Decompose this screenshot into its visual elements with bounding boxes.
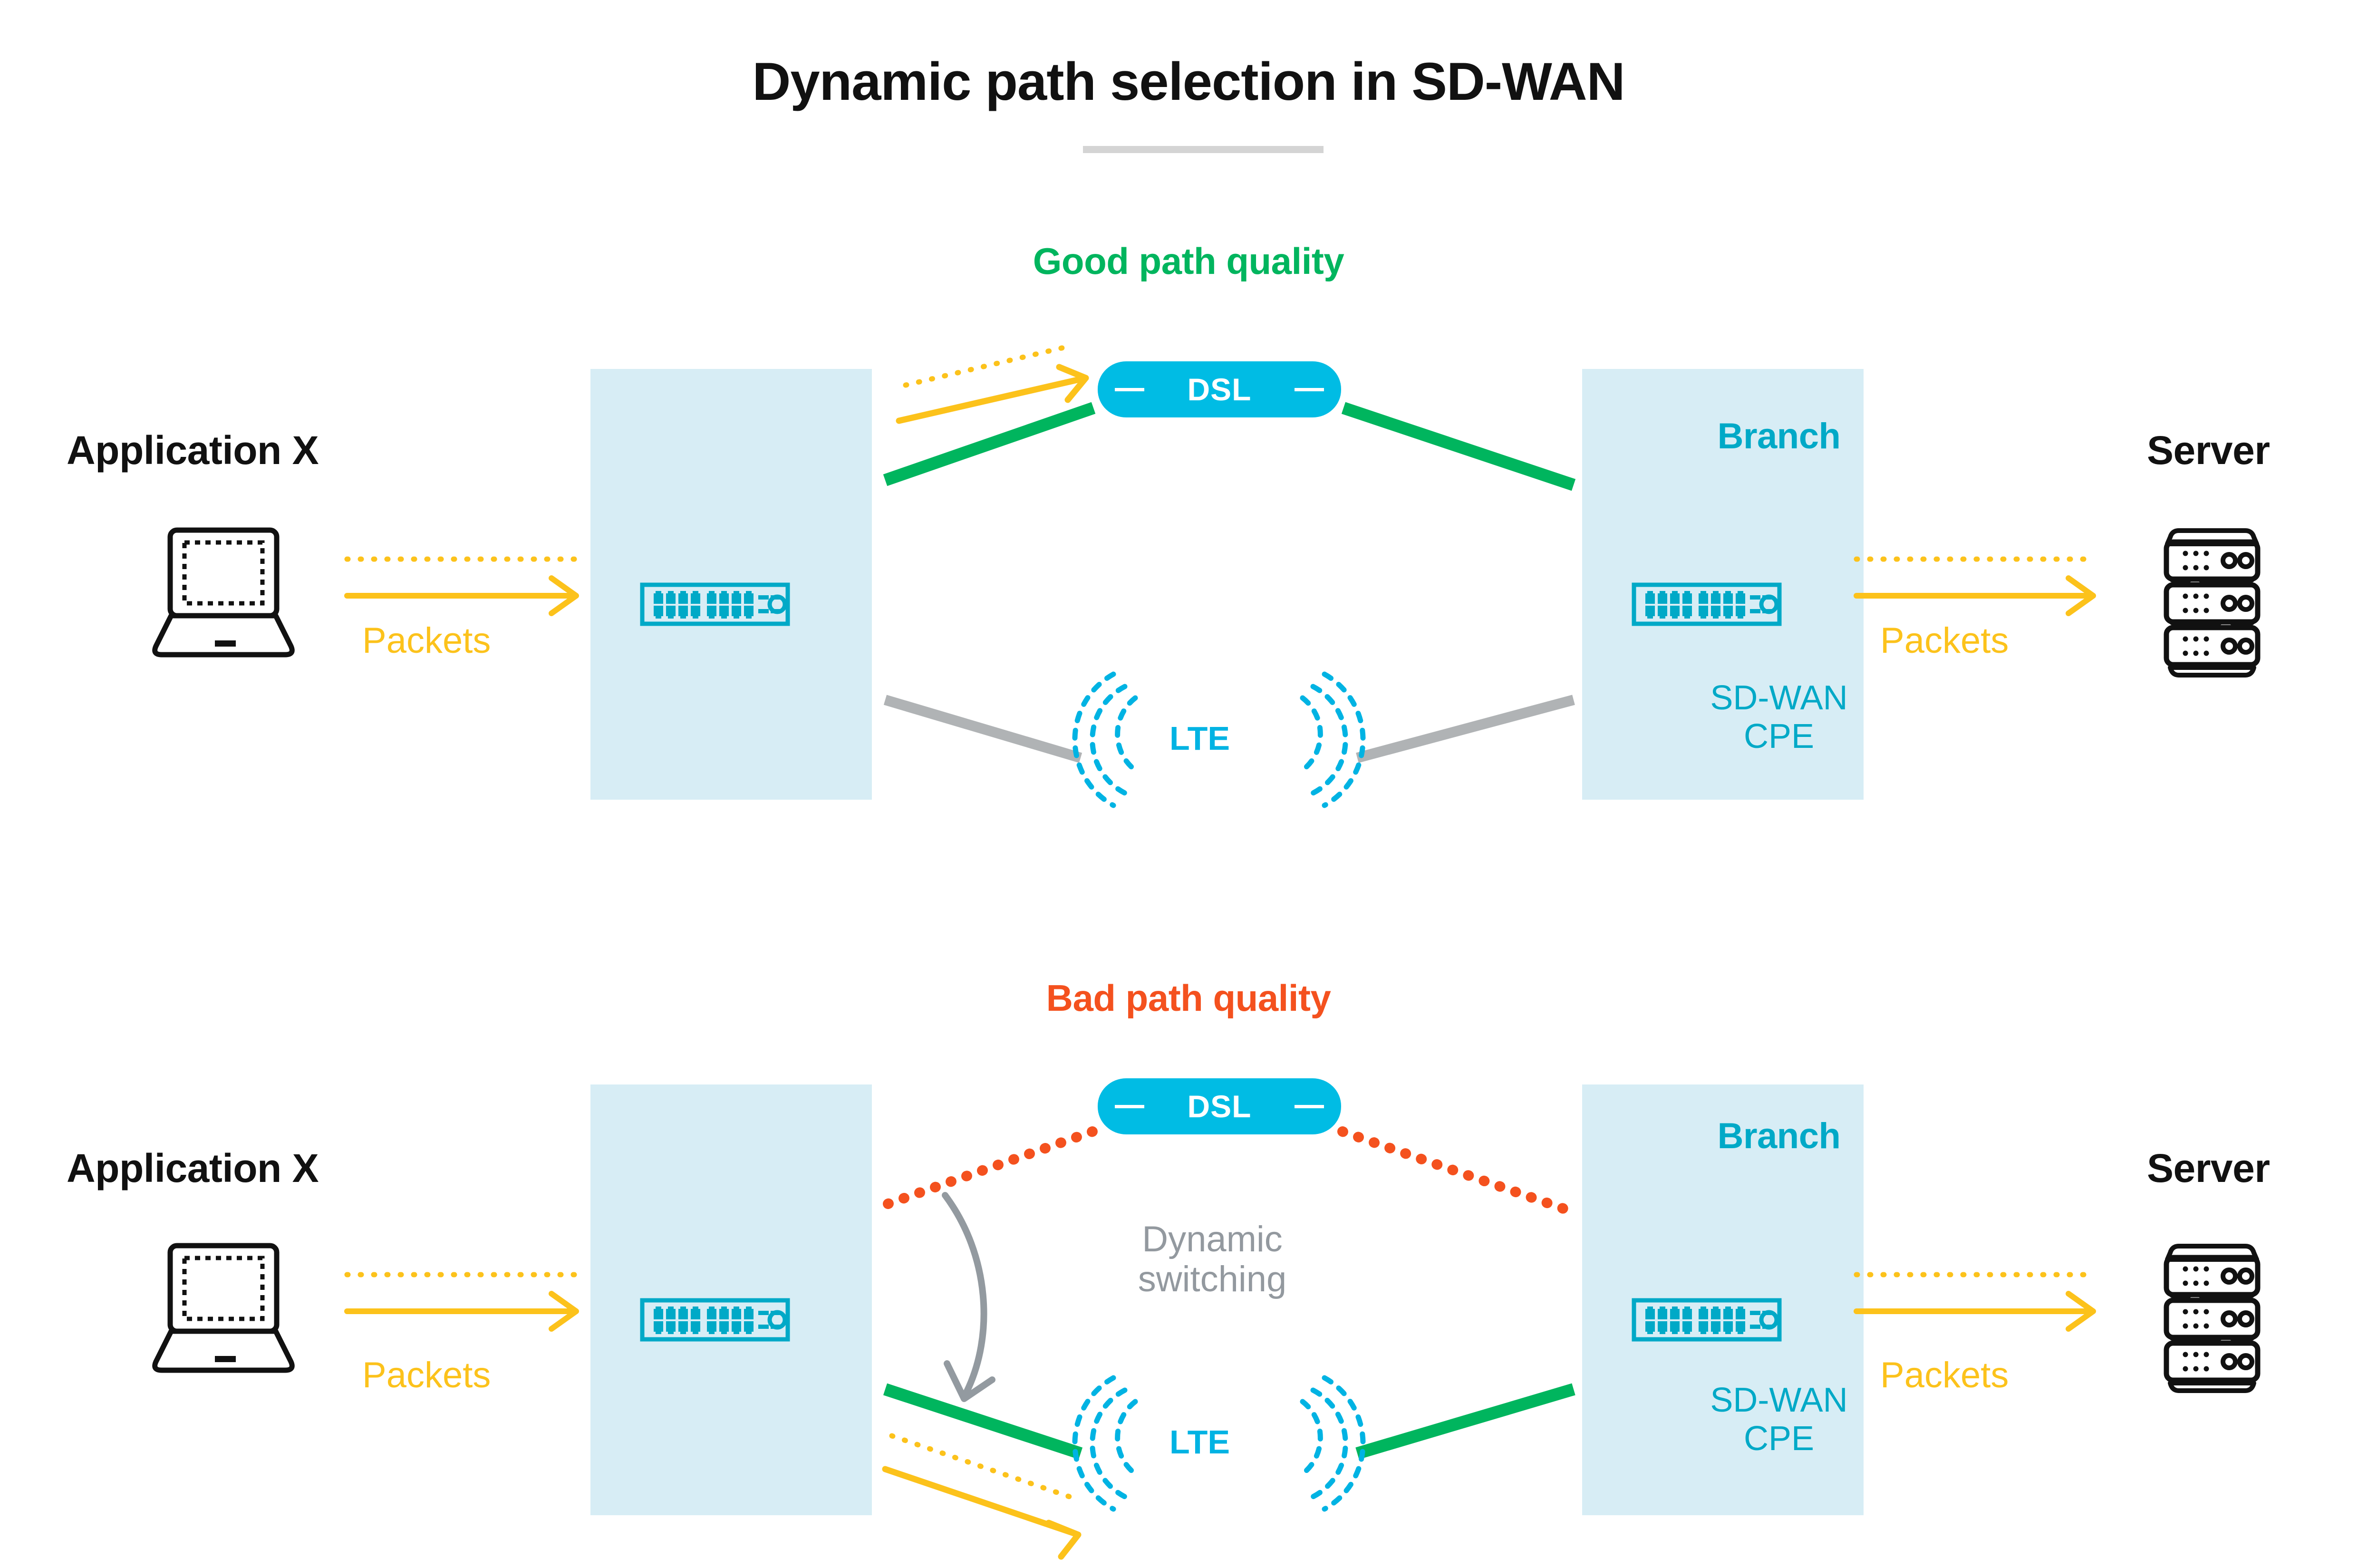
traffic-arrow-to-dsl-good [899,367,1086,421]
site-subtitle-hq-good: SD-WAN CPE [1582,679,2377,755]
title-divider [1083,146,1324,153]
section-label-bad: Bad path quality [856,979,1521,1016]
packets-label-right-bad: Packets [1880,1357,2009,1394]
packets-label-right-good: Packets [1880,623,2009,659]
lte-node-label-good: LTE [1169,722,1230,755]
packet-arrow-right-bad [1856,1294,2093,1329]
endpoint-label-application-x-good: Application X [67,430,319,470]
traffic-dotted-line-good [906,346,1070,385]
server-rack-icon [2166,1246,2258,1391]
laptop-icon [155,530,292,655]
packets-label-left-bad: Packets [362,1357,491,1394]
server-rack-icon [2166,531,2258,675]
dynamic-switching-annotation: Dynamic switching [1032,1220,1393,1299]
diagram-vector-layer [0,0,2377,1568]
dsl-node-label: DSL [1098,1078,1341,1134]
endpoint-label-server-good: Server [2147,430,2270,470]
endpoint-label-application-x-bad: Application X [67,1148,319,1188]
dynamic-switching-line-2: switching [1138,1259,1287,1299]
packets-label-left-good: Packets [362,623,491,659]
laptop-icon [155,1246,292,1370]
dynamic-switching-curved-arrow-icon [945,1195,992,1399]
dynamic-switching-line-1: Dynamic [1142,1219,1283,1259]
diagram-canvas: Dynamic path selection in SD-WAN Good pa… [0,0,2377,1568]
traffic-arrow-to-lte-bad [885,1469,1078,1557]
dsl-node-label: DSL [1098,361,1341,417]
lte-node-label-bad: LTE [1169,1425,1230,1459]
endpoint-label-server-bad: Server [2147,1148,2270,1188]
dsl-node-good[interactable]: DSL [1098,361,1341,417]
packet-arrow-left-good [347,578,576,613]
packet-arrow-right-good [1856,578,2093,613]
section-label-good: Good path quality [856,242,1521,280]
packet-arrow-left-bad [347,1294,576,1329]
dsl-node-bad[interactable]: DSL [1098,1078,1341,1134]
page-title: Dynamic path selection in SD-WAN [0,52,2377,111]
